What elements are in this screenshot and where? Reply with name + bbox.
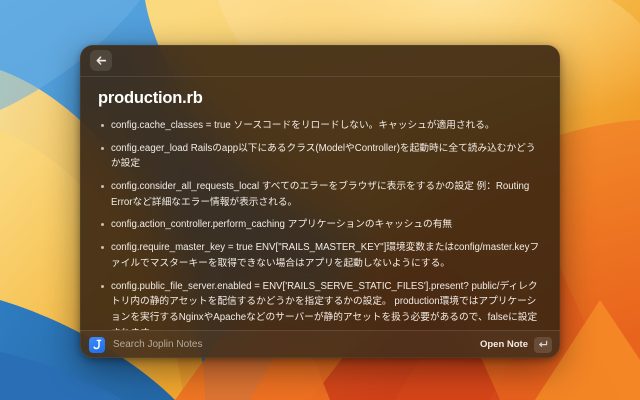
note-bullet-list: config.cache_classes = true ソースコードをリロードし… xyxy=(98,118,542,330)
note-title: production.rb xyxy=(98,89,542,109)
note-preview-panel: production.rb config.cache_classes = tru… xyxy=(80,45,560,358)
note-bullet-item: config.consider_all_requests_local すべてのエ… xyxy=(98,179,542,210)
note-bullet-item: config.action_controller.perform_caching… xyxy=(98,217,542,233)
panel-header xyxy=(80,45,560,77)
joplin-j-glyph xyxy=(92,339,103,350)
arrow-left-icon xyxy=(96,56,107,66)
note-bullet-item: config.eager_load Railsのapp以下にあるクラス(Mode… xyxy=(98,141,542,172)
note-bullet-item: config.cache_classes = true ソースコードをリロードし… xyxy=(98,118,542,134)
open-note-action[interactable]: Open Note xyxy=(480,337,552,353)
panel-footer: Open Note xyxy=(80,330,560,358)
note-content-area[interactable]: production.rb config.cache_classes = tru… xyxy=(80,77,560,330)
note-bullet-item: config.public_file_server.enabled = ENV[… xyxy=(98,279,542,330)
open-note-label: Open Note xyxy=(480,339,528,350)
search-input[interactable] xyxy=(113,339,472,350)
return-key-icon xyxy=(538,340,548,349)
joplin-icon xyxy=(89,337,105,353)
desktop: production.rb config.cache_classes = tru… xyxy=(0,0,640,400)
back-button[interactable] xyxy=(90,50,112,71)
return-key-button[interactable] xyxy=(534,337,552,353)
note-bullet-item: config.require_master_key = true ENV["RA… xyxy=(98,240,542,271)
